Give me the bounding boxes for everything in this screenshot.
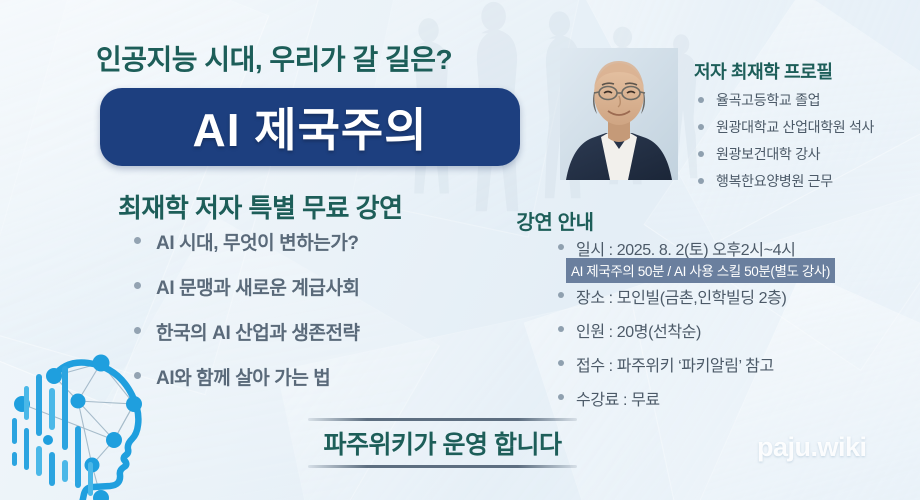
poster-canvas: 인공지능 시대, 우리가 갈 길은? AI 제국주의 최재학 저자 특별 무료 …	[0, 0, 920, 500]
list-item: AI 시대, 무엇이 변하는가?	[130, 228, 360, 255]
page-headline: 인공지능 시대, 우리가 갈 길은?	[96, 38, 452, 78]
profile-heading: 저자 최재학 프로필	[694, 58, 832, 84]
list-item: 일시 : 2025. 8. 2(토) 오후2시~4시	[556, 236, 906, 260]
list-item: 원광보건대학 강사	[696, 144, 874, 164]
operator-label: 파주위키가 운영 합니다	[300, 418, 585, 468]
paju-wiki-wordmark: paju.wiki	[757, 432, 867, 463]
list-item: 행복한요양병원 근무	[696, 171, 874, 191]
page-title: AI 제국주의	[100, 88, 520, 166]
list-item: AI 문맹과 새로운 계급사회	[130, 273, 360, 300]
list-item: 접수 : 파주위키 ‘파키알림’ 참고	[556, 352, 906, 376]
operator-banner: 파주위키가 운영 합니다	[300, 418, 585, 468]
brain-head-icon	[6, 330, 186, 500]
lecture-highlight-note: AI 제국주의 50분 / AI 사용 스킬 50분(별도 강사)	[566, 258, 835, 283]
title-badge: AI 제국주의	[100, 88, 520, 166]
divider-bottom	[308, 465, 577, 468]
page-subheading: 최재학 저자 특별 무료 강연	[118, 188, 403, 225]
list-item: 원광대학교 산업대학원 석사	[696, 117, 874, 137]
list-item: 인원 : 20명(선착순)	[556, 318, 906, 342]
author-portrait-photo	[560, 48, 678, 180]
list-item: 장소 : 모인빌(금촌,인학빌딩 2층)	[556, 284, 906, 308]
list-item: 수강료 : 무료	[556, 386, 906, 410]
list-item: 율곡고등학교 졸업	[696, 90, 874, 110]
profile-list: 율곡고등학교 졸업 원광대학교 산업대학원 석사 원광보건대학 강사 행복한요양…	[696, 90, 874, 198]
